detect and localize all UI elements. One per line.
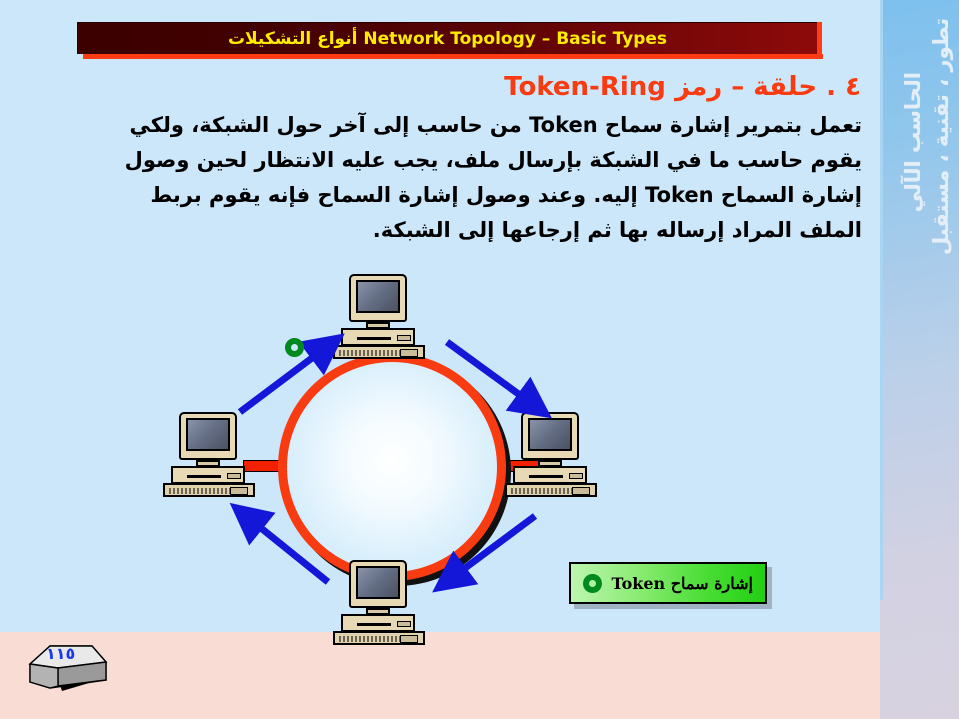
body-paragraph: تعمل بتمرير إشارة سماح Token من حاسب إلى… xyxy=(38,108,862,248)
keyboard-keys xyxy=(339,636,401,642)
screen xyxy=(356,280,400,313)
title-bar-text: Network Topology – Basic Types أنواع الت… xyxy=(228,29,667,49)
floppy-drive xyxy=(397,621,411,627)
keyboard-icon xyxy=(333,631,425,645)
keyboard-numpad xyxy=(400,349,418,357)
floppy-drive xyxy=(227,473,241,479)
computer-icon-left xyxy=(163,412,255,498)
sidebar-vertical-text-1: تطور ، تقنية ، مستقبل xyxy=(929,18,953,255)
drive-slot xyxy=(187,475,221,478)
title-bar: Network Topology – Basic Types أنواع الت… xyxy=(77,22,817,54)
screen xyxy=(186,418,230,451)
monitor-icon xyxy=(179,412,237,460)
desktop-case xyxy=(341,614,415,632)
computer-icon-right xyxy=(505,412,597,498)
keyboard-numpad xyxy=(400,635,418,643)
keyboard-icon xyxy=(163,483,255,497)
monitor-icon xyxy=(349,560,407,608)
flow-arrow-top-right-icon xyxy=(443,336,553,416)
floppy-drive xyxy=(569,473,583,479)
screen xyxy=(528,418,572,451)
desktop-case xyxy=(171,466,245,484)
keyboard-keys xyxy=(169,488,231,494)
token-ring-icon xyxy=(583,574,602,593)
desktop-case xyxy=(513,466,587,484)
sidebar-vertical-text-2: الحاسب الآلي xyxy=(901,72,925,212)
slide-root: تطور ، تقنية ، مستقبل الحاسب الآلي Netwo… xyxy=(0,0,959,719)
legend-box[interactable]: إشارة سماح Token xyxy=(569,562,767,604)
token-marker-icon xyxy=(285,338,304,357)
drive-slot xyxy=(529,475,563,478)
legend-label: إشارة سماح Token xyxy=(612,574,753,593)
body-line-4: الملف المراد إرساله بها ثم إرجاعها إلى ا… xyxy=(38,213,862,248)
keyboard-numpad xyxy=(230,487,248,495)
keyboard-icon xyxy=(505,483,597,497)
keyboard-keys xyxy=(511,488,573,494)
right-sidebar: تطور ، تقنية ، مستقبل الحاسب الآلي xyxy=(880,0,959,719)
drive-slot xyxy=(357,623,391,626)
title-bar-shadow xyxy=(83,54,823,59)
monitor-icon xyxy=(521,412,579,460)
drive-slot xyxy=(357,337,391,340)
keyboard-numpad xyxy=(572,487,590,495)
floppy-drive xyxy=(397,335,411,341)
desktop-case xyxy=(341,328,415,346)
slide-heading: ٤ . حلقة – رمز Token-Ring xyxy=(504,72,861,102)
token-ring-icon xyxy=(285,338,304,357)
keyboard-keys xyxy=(339,350,401,356)
page-number: ١١٥ xyxy=(46,644,75,663)
screen xyxy=(356,566,400,599)
flow-arrow-bottom-right-icon xyxy=(443,510,553,590)
sidebar-edge xyxy=(880,0,883,600)
flow-arrow-bottom-left-icon xyxy=(238,510,348,590)
body-line-1: تعمل بتمرير إشارة سماح Token من حاسب إلى… xyxy=(38,108,862,143)
body-line-3: إشارة السماح Token إليه. وعند وصول إشارة… xyxy=(38,178,862,213)
monitor-icon xyxy=(349,274,407,322)
body-line-2: يقوم حاسب ما في الشبكة بإرسال ملف، يجب ع… xyxy=(38,143,862,178)
